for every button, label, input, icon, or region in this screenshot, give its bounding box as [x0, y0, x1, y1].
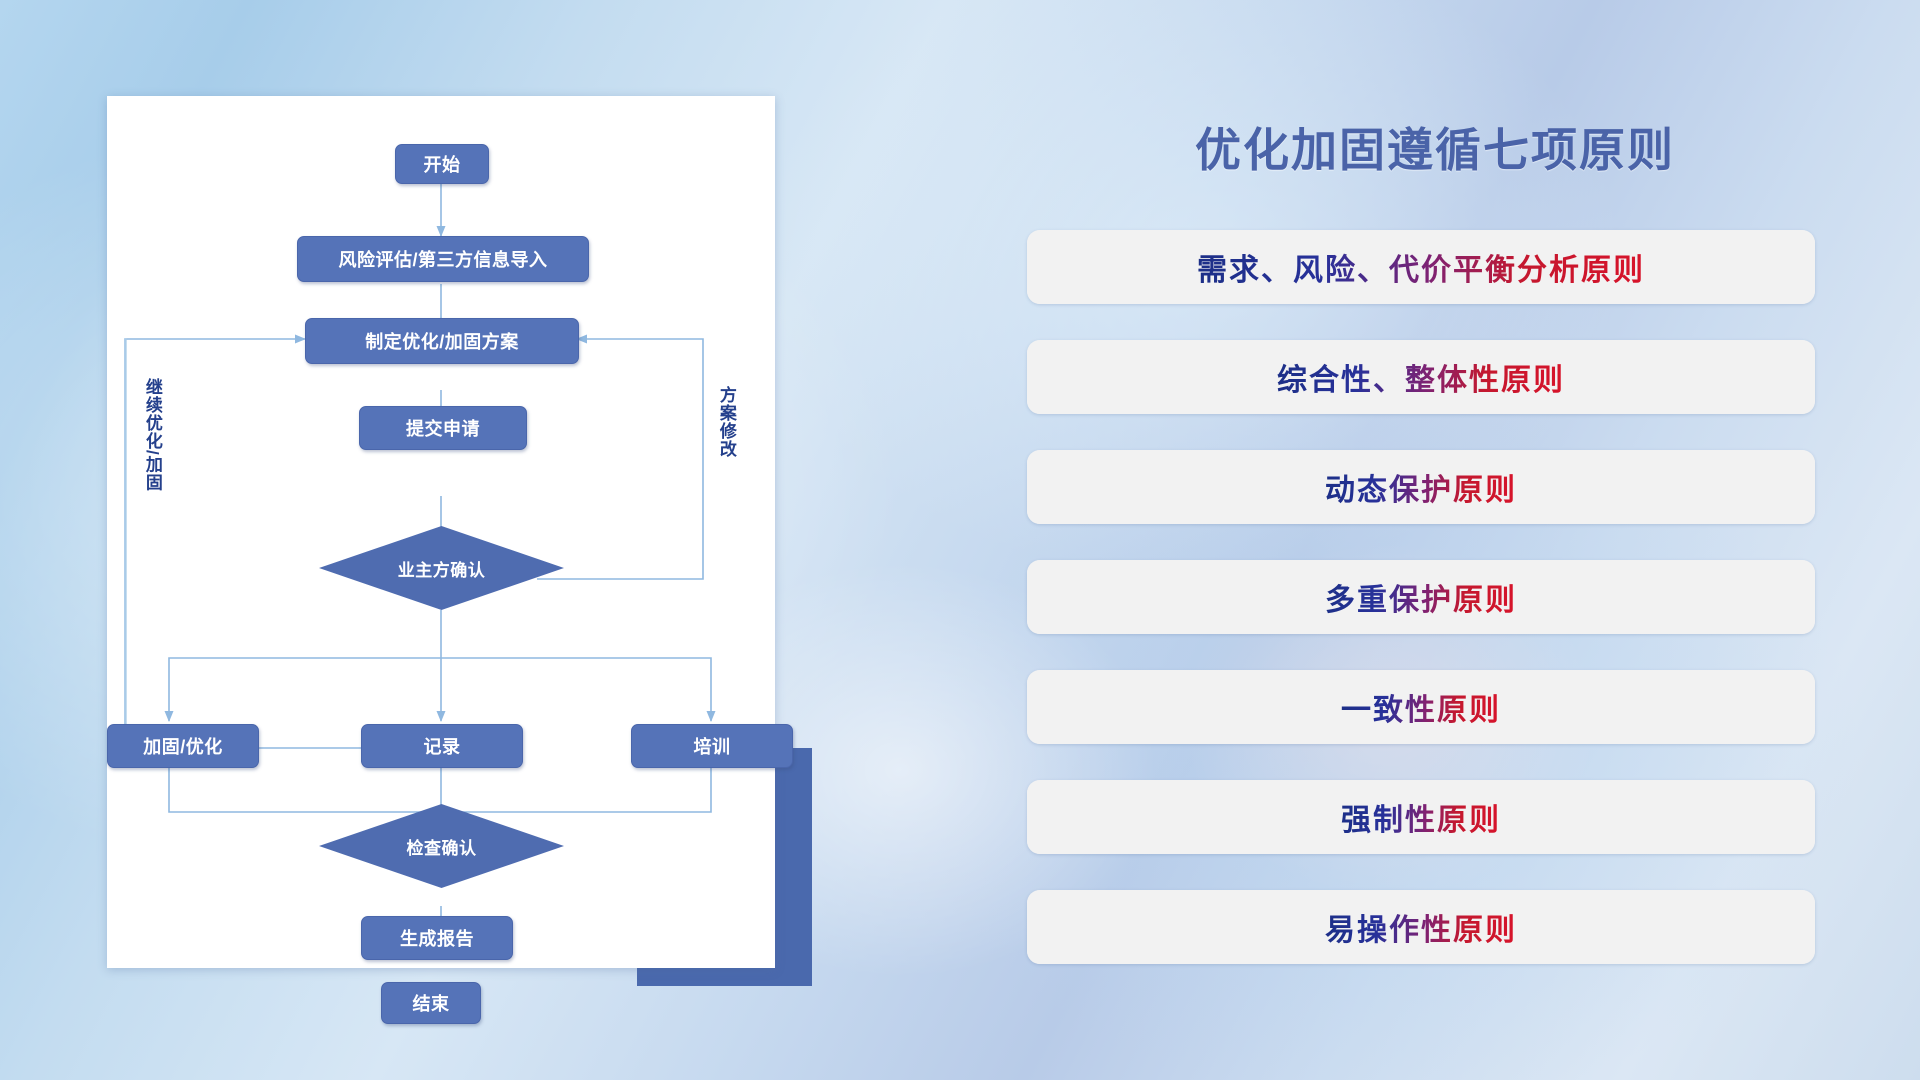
flow-node-risk-assessment[interactable]: 风险评估/第三方信息导入 [297, 236, 589, 282]
principle-card[interactable]: 一致性原则 [1027, 670, 1815, 744]
principle-label: 多重保护原则 [1325, 575, 1517, 619]
flow-node-end-label: 结束 [413, 990, 450, 1016]
flow-node-owner-confirm[interactable]: 业主方确认 [319, 526, 564, 610]
principle-card-inner: 易操作性原则 [1027, 890, 1815, 964]
principle-card[interactable]: 易操作性原则 [1027, 890, 1815, 964]
principle-card-inner: 综合性、整体性原则 [1027, 340, 1815, 414]
principle-list: 需求、风险、代价平衡分析原则 综合性、整体性原则 动态保护原则 多重保护原则 [1027, 230, 1827, 1000]
principle-card[interactable]: 需求、风险、代价平衡分析原则 [1027, 230, 1815, 304]
principle-card[interactable]: 综合性、整体性原则 [1027, 340, 1815, 414]
flowchart-card: 开始 风险评估/第三方信息导入 制定优化/加固方案 提交申请 业主方确认 加固/… [107, 96, 775, 968]
flow-node-risk-assessment-label: 风险评估/第三方信息导入 [339, 246, 548, 272]
principle-card[interactable]: 动态保护原则 [1027, 450, 1815, 524]
flow-node-reinforce-optimize[interactable]: 加固/优化 [107, 724, 259, 768]
flow-node-generate-report-label: 生成报告 [400, 925, 474, 951]
flow-node-generate-report[interactable]: 生成报告 [361, 916, 513, 960]
flow-node-check-confirm[interactable]: 检查确认 [319, 804, 564, 888]
flow-node-training[interactable]: 培训 [631, 724, 793, 768]
principle-label: 强制性原则 [1341, 795, 1501, 839]
flow-node-make-plan[interactable]: 制定优化/加固方案 [305, 318, 579, 364]
flow-edge-label-right-loop: 方案修改 [717, 386, 735, 458]
principle-card-inner: 强制性原则 [1027, 780, 1815, 854]
principle-card-inner: 一致性原则 [1027, 670, 1815, 744]
flow-node-check-confirm-label: 检查确认 [407, 834, 477, 859]
principle-card-inner: 需求、风险、代价平衡分析原则 [1027, 230, 1815, 304]
slide-canvas: 开始 风险评估/第三方信息导入 制定优化/加固方案 提交申请 业主方确认 加固/… [0, 0, 1920, 1080]
flow-edge-label-left-loop: 继续优化/加固 [143, 378, 161, 492]
principle-card[interactable]: 强制性原则 [1027, 780, 1815, 854]
flow-node-record[interactable]: 记录 [361, 724, 523, 768]
flow-node-training-label: 培训 [694, 733, 731, 759]
principle-label: 一致性原则 [1341, 685, 1501, 729]
flow-node-submit-application[interactable]: 提交申请 [359, 406, 527, 450]
principles-panel: 优化加固遵循七项原则 需求、风险、代价平衡分析原则 综合性、整体性原则 动态保护… [1010, 96, 1860, 996]
flow-node-owner-confirm-label: 业主方确认 [398, 556, 486, 581]
flow-node-make-plan-label: 制定优化/加固方案 [365, 328, 519, 354]
principle-label: 需求、风险、代价平衡分析原则 [1197, 245, 1645, 289]
flow-node-record-label: 记录 [424, 733, 461, 759]
principle-label: 动态保护原则 [1325, 465, 1517, 509]
flow-node-start-label: 开始 [424, 151, 461, 177]
flow-node-reinforce-optimize-label: 加固/优化 [143, 733, 223, 759]
principle-card-inner: 多重保护原则 [1027, 560, 1815, 634]
principle-label: 易操作性原则 [1325, 905, 1517, 949]
principle-card-inner: 动态保护原则 [1027, 450, 1815, 524]
flow-node-submit-application-label: 提交申请 [406, 415, 480, 441]
principle-card[interactable]: 多重保护原则 [1027, 560, 1815, 634]
flow-node-start[interactable]: 开始 [395, 144, 489, 184]
panel-title: 优化加固遵循七项原则 [1010, 114, 1860, 180]
principle-label: 综合性、整体性原则 [1277, 355, 1565, 399]
flow-node-end[interactable]: 结束 [381, 982, 481, 1024]
